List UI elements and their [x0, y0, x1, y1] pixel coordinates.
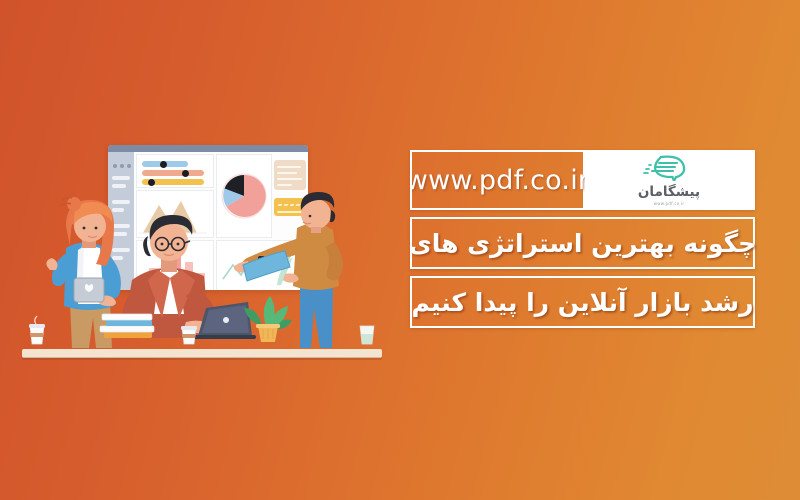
- team-analytics-illustration: [0, 130, 400, 360]
- headline-line-2: رشد بازار آنلاین را پیدا کنیم: [412, 288, 754, 317]
- website-url-cell[interactable]: www.pdf.co.ir: [412, 152, 585, 208]
- headline-line-2-box: رشد بازار آنلاین را پیدا کنیم: [410, 276, 755, 328]
- website-url-text: www.pdf.co.ir: [410, 165, 589, 196]
- coffee-cup-center: [181, 326, 197, 344]
- promo-banner: www.pdf.co.ir پیشگامان www.pdf.co.ir: [0, 0, 800, 500]
- desk-shadow: [22, 357, 382, 360]
- svg-text:پیشگامان: پیشگامان: [638, 183, 700, 200]
- book-stack: [100, 314, 154, 338]
- speech-bubble-icon: [642, 155, 696, 181]
- water-glass-right: [360, 326, 374, 344]
- headline-line-1-box: چگونه بهترین استراتژی های: [410, 217, 755, 269]
- people-group: [0, 130, 400, 360]
- brand-logo-cell[interactable]: پیشگامان www.pdf.co.ir: [585, 152, 753, 208]
- brand-wordmark: پیشگامان: [617, 182, 721, 202]
- headline-line-1: چگونه بهترین استراتژی های: [409, 229, 756, 258]
- logo-sub-url: www.pdf.co.ir: [654, 201, 685, 206]
- banner-text-panels: www.pdf.co.ir پیشگامان www.pdf.co.ir: [410, 150, 755, 335]
- url-and-logo-row: www.pdf.co.ir پیشگامان www.pdf.co.ir: [410, 150, 755, 210]
- coffee-cup-left: [29, 316, 45, 344]
